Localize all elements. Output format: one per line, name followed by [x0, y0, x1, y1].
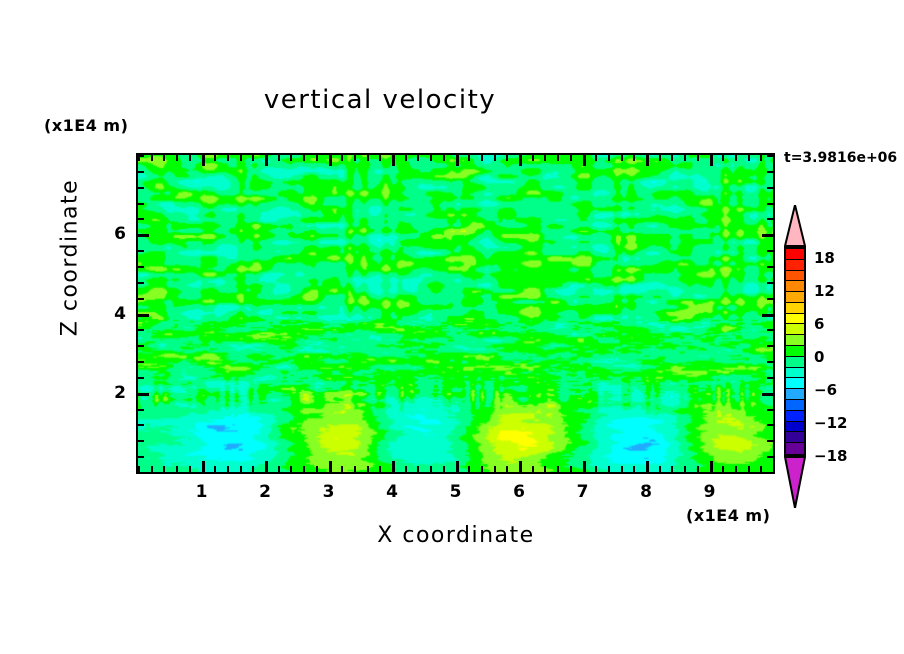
x-axis-tick [544, 155, 546, 161]
x-axis-tick [722, 466, 724, 472]
colorbar-band [786, 314, 804, 325]
y-axis-tick [138, 409, 144, 411]
colorbar-band [786, 260, 804, 271]
x-axis-tick [392, 155, 395, 166]
x-axis-tick [595, 466, 597, 472]
x-axis-tick [316, 155, 318, 161]
x-tick-label: 7 [577, 482, 589, 502]
x-axis-tick [456, 155, 459, 166]
x-tick-label: 8 [640, 482, 652, 502]
x-axis-tick [303, 155, 305, 161]
y-axis-tick [767, 203, 773, 205]
colorbar-band [786, 422, 804, 433]
x-axis-tick [367, 466, 369, 472]
x-axis-tick [417, 155, 419, 161]
y-axis-tick [762, 393, 773, 396]
x-axis-tick [202, 155, 205, 166]
colorbar-tick-label: 0 [814, 348, 824, 366]
colorbar-band [786, 357, 804, 368]
y-axis-tick [767, 409, 773, 411]
y-axis-tick [767, 218, 773, 220]
colorbar-tick-label: 18 [814, 249, 835, 267]
x-axis-tick [557, 155, 559, 161]
x-tick-label: 5 [450, 482, 462, 502]
x-axis-tick [240, 155, 242, 161]
colorbar-band [786, 368, 804, 379]
x-axis-tick [329, 155, 332, 166]
y-axis-tick [138, 187, 144, 189]
x-axis-tick [595, 155, 597, 161]
x-axis-tick [278, 155, 280, 161]
x-axis-tick [456, 461, 459, 472]
y-axis-tick [767, 329, 773, 331]
x-axis-tick [290, 466, 292, 472]
x-axis-tick [557, 466, 559, 472]
x-axis-tick [405, 466, 407, 472]
x-axis-tick [671, 466, 673, 472]
y-axis-tick [767, 298, 773, 300]
y-axis-tick [767, 377, 773, 379]
x-axis-tick [303, 466, 305, 472]
x-axis-tick [265, 461, 268, 472]
colorbar-band [786, 432, 804, 443]
x-axis-tick [481, 466, 483, 472]
y-axis-tick [138, 314, 149, 317]
y-axis-tick [762, 314, 773, 317]
colorbar-bands [784, 247, 806, 456]
colorbar-tick-label: −6 [814, 381, 837, 399]
y-axis-tick [767, 250, 773, 252]
y-axis-tick [138, 171, 144, 173]
x-axis-tick [430, 466, 432, 472]
y-axis-tick [767, 424, 773, 426]
colorbar-band [786, 324, 804, 335]
x-tick-label: 3 [323, 482, 335, 502]
x-axis-tick [583, 461, 586, 472]
x-axis-tick [735, 466, 737, 472]
y-axis-tick [138, 472, 144, 474]
y-axis-tick [767, 345, 773, 347]
x-axis-tick [468, 466, 470, 472]
y-tick-label: 2 [102, 383, 126, 403]
x-axis-tick [710, 155, 713, 166]
colorbar-tick-label: 6 [814, 315, 824, 333]
colorbar-band [786, 303, 804, 314]
x-axis-tick [519, 155, 522, 166]
y-axis-tick [138, 456, 144, 458]
x-axis-tick [773, 466, 775, 472]
y-axis-tick [767, 155, 773, 157]
x-axis-tick [379, 466, 381, 472]
contour-plot-area [136, 153, 775, 474]
x-axis-tick [722, 155, 724, 161]
x-axis-tick [633, 466, 635, 472]
x-axis-tick [443, 466, 445, 472]
x-axis-tick [608, 155, 610, 161]
x-axis-tick [646, 155, 649, 166]
x-axis-tick [214, 155, 216, 161]
x-axis-tick [697, 155, 699, 161]
y-axis-tick [138, 155, 144, 157]
x-axis-tick [773, 155, 775, 161]
y-axis-title: Z coordinate [58, 128, 83, 388]
x-axis-tick [608, 466, 610, 472]
colorbar-tick-label: −12 [814, 414, 847, 432]
x-axis-tick [760, 466, 762, 472]
y-axis-tick [138, 393, 149, 396]
x-axis-tick [278, 466, 280, 472]
x-axis-tick [227, 155, 229, 161]
y-axis-tick [767, 472, 773, 474]
x-axis-tick [481, 155, 483, 161]
x-axis-tick [430, 155, 432, 161]
x-axis-tick [316, 466, 318, 472]
x-axis-tick [354, 155, 356, 161]
page-title: vertical velocity [0, 85, 760, 115]
y-tick-label: 6 [102, 224, 126, 244]
x-axis-tick [659, 466, 661, 472]
colorbar-tick-label: 12 [814, 282, 835, 300]
x-axis-tick [494, 466, 496, 472]
x-axis-tick [163, 466, 165, 472]
y-axis-tick [138, 424, 144, 426]
x-axis-tick [760, 155, 762, 161]
colorbar-band [786, 281, 804, 292]
x-axis-tick [671, 155, 673, 161]
y-axis-tick [138, 440, 144, 442]
x-axis-tick [240, 466, 242, 472]
colorbar-tick-label: −18 [814, 447, 847, 465]
x-axis-tick [405, 155, 407, 161]
colorbar-band [786, 346, 804, 357]
colorbar-band [786, 443, 804, 454]
colorbar-band [786, 411, 804, 422]
x-axis-tick [646, 461, 649, 472]
x-axis-tick [570, 155, 572, 161]
y-axis-tick [767, 361, 773, 363]
x-axis-tick [468, 155, 470, 161]
x-axis-tick [506, 466, 508, 472]
colorbar-band [786, 378, 804, 389]
x-axis-tick [329, 461, 332, 472]
y-axis-tick [767, 456, 773, 458]
colorbar-band [786, 389, 804, 400]
y-axis-tick [767, 171, 773, 173]
y-axis-tick [138, 377, 144, 379]
colorbar-band [786, 249, 804, 260]
x-axis-tick [710, 461, 713, 472]
y-axis-tick [138, 203, 144, 205]
x-axis-tick [621, 155, 623, 161]
x-tick-label: 1 [196, 482, 208, 502]
x-axis-tick [443, 155, 445, 161]
y-axis-tick [767, 440, 773, 442]
x-axis-tick [583, 155, 586, 166]
x-axis-tick [151, 155, 153, 161]
x-axis-tick [290, 155, 292, 161]
x-axis-tick [176, 155, 178, 161]
x-tick-label: 2 [259, 482, 271, 502]
x-axis-tick [659, 155, 661, 161]
x-axis-tick [367, 155, 369, 161]
x-axis-tick [633, 155, 635, 161]
y-axis-tick [767, 187, 773, 189]
x-axis-tick [417, 466, 419, 472]
x-axis-tick [354, 466, 356, 472]
x-axis-tick [532, 466, 534, 472]
x-axis-tick [697, 466, 699, 472]
y-axis-tick [138, 266, 144, 268]
y-axis-tick [138, 282, 144, 284]
y-axis-tick [138, 250, 144, 252]
x-axis-tick [621, 466, 623, 472]
colorbar-band [786, 400, 804, 411]
y-axis-tick [767, 266, 773, 268]
colorbar-band [786, 335, 804, 346]
x-axis-tick [252, 155, 254, 161]
x-axis-title: X coordinate [286, 523, 626, 548]
x-axis-unit-label: (x1E4 m) [686, 506, 770, 525]
colorbar-band [786, 271, 804, 282]
colorbar-band [786, 292, 804, 303]
x-axis-tick [684, 155, 686, 161]
y-axis-tick [138, 298, 144, 300]
x-axis-tick [214, 466, 216, 472]
x-tick-label: 6 [513, 482, 525, 502]
velocity-field-image [138, 155, 775, 474]
x-axis-tick [494, 155, 496, 161]
x-tick-label: 4 [386, 482, 398, 502]
x-tick-label: 9 [704, 482, 716, 502]
y-axis-tick [762, 234, 773, 237]
x-axis-tick [341, 466, 343, 472]
x-axis-tick [227, 466, 229, 472]
x-axis-tick [532, 155, 534, 161]
x-axis-tick [748, 155, 750, 161]
x-axis-tick [265, 155, 268, 166]
x-axis-tick [151, 466, 153, 472]
y-axis-tick [138, 329, 144, 331]
x-axis-tick [379, 155, 381, 161]
colorbar-lower-arrow-icon [784, 456, 806, 508]
x-axis-tick [189, 155, 191, 161]
x-axis-tick [735, 155, 737, 161]
x-axis-tick [544, 466, 546, 472]
x-axis-tick [176, 466, 178, 472]
y-axis-tick [767, 282, 773, 284]
x-axis-tick [252, 466, 254, 472]
colorbar-upper-arrow-icon [784, 205, 806, 247]
y-axis-tick [138, 361, 144, 363]
y-tick-label: 4 [102, 304, 126, 324]
x-axis-tick [506, 155, 508, 161]
x-axis-tick [519, 461, 522, 472]
y-axis-tick [138, 345, 144, 347]
x-axis-tick [163, 155, 165, 161]
x-axis-tick [570, 466, 572, 472]
figure-canvas: vertical velocity (x1E4 m) (x1E4 m) t=3.… [0, 0, 904, 654]
y-axis-tick [138, 218, 144, 220]
x-axis-tick [341, 155, 343, 161]
time-annotation: t=3.9816e+06 [784, 150, 897, 166]
x-axis-tick [392, 461, 395, 472]
x-axis-tick [202, 461, 205, 472]
y-axis-tick [138, 234, 149, 237]
colorbar: 181260−6−12−18 [780, 205, 900, 525]
x-axis-tick [748, 466, 750, 472]
x-axis-tick [189, 466, 191, 472]
x-axis-tick [684, 466, 686, 472]
